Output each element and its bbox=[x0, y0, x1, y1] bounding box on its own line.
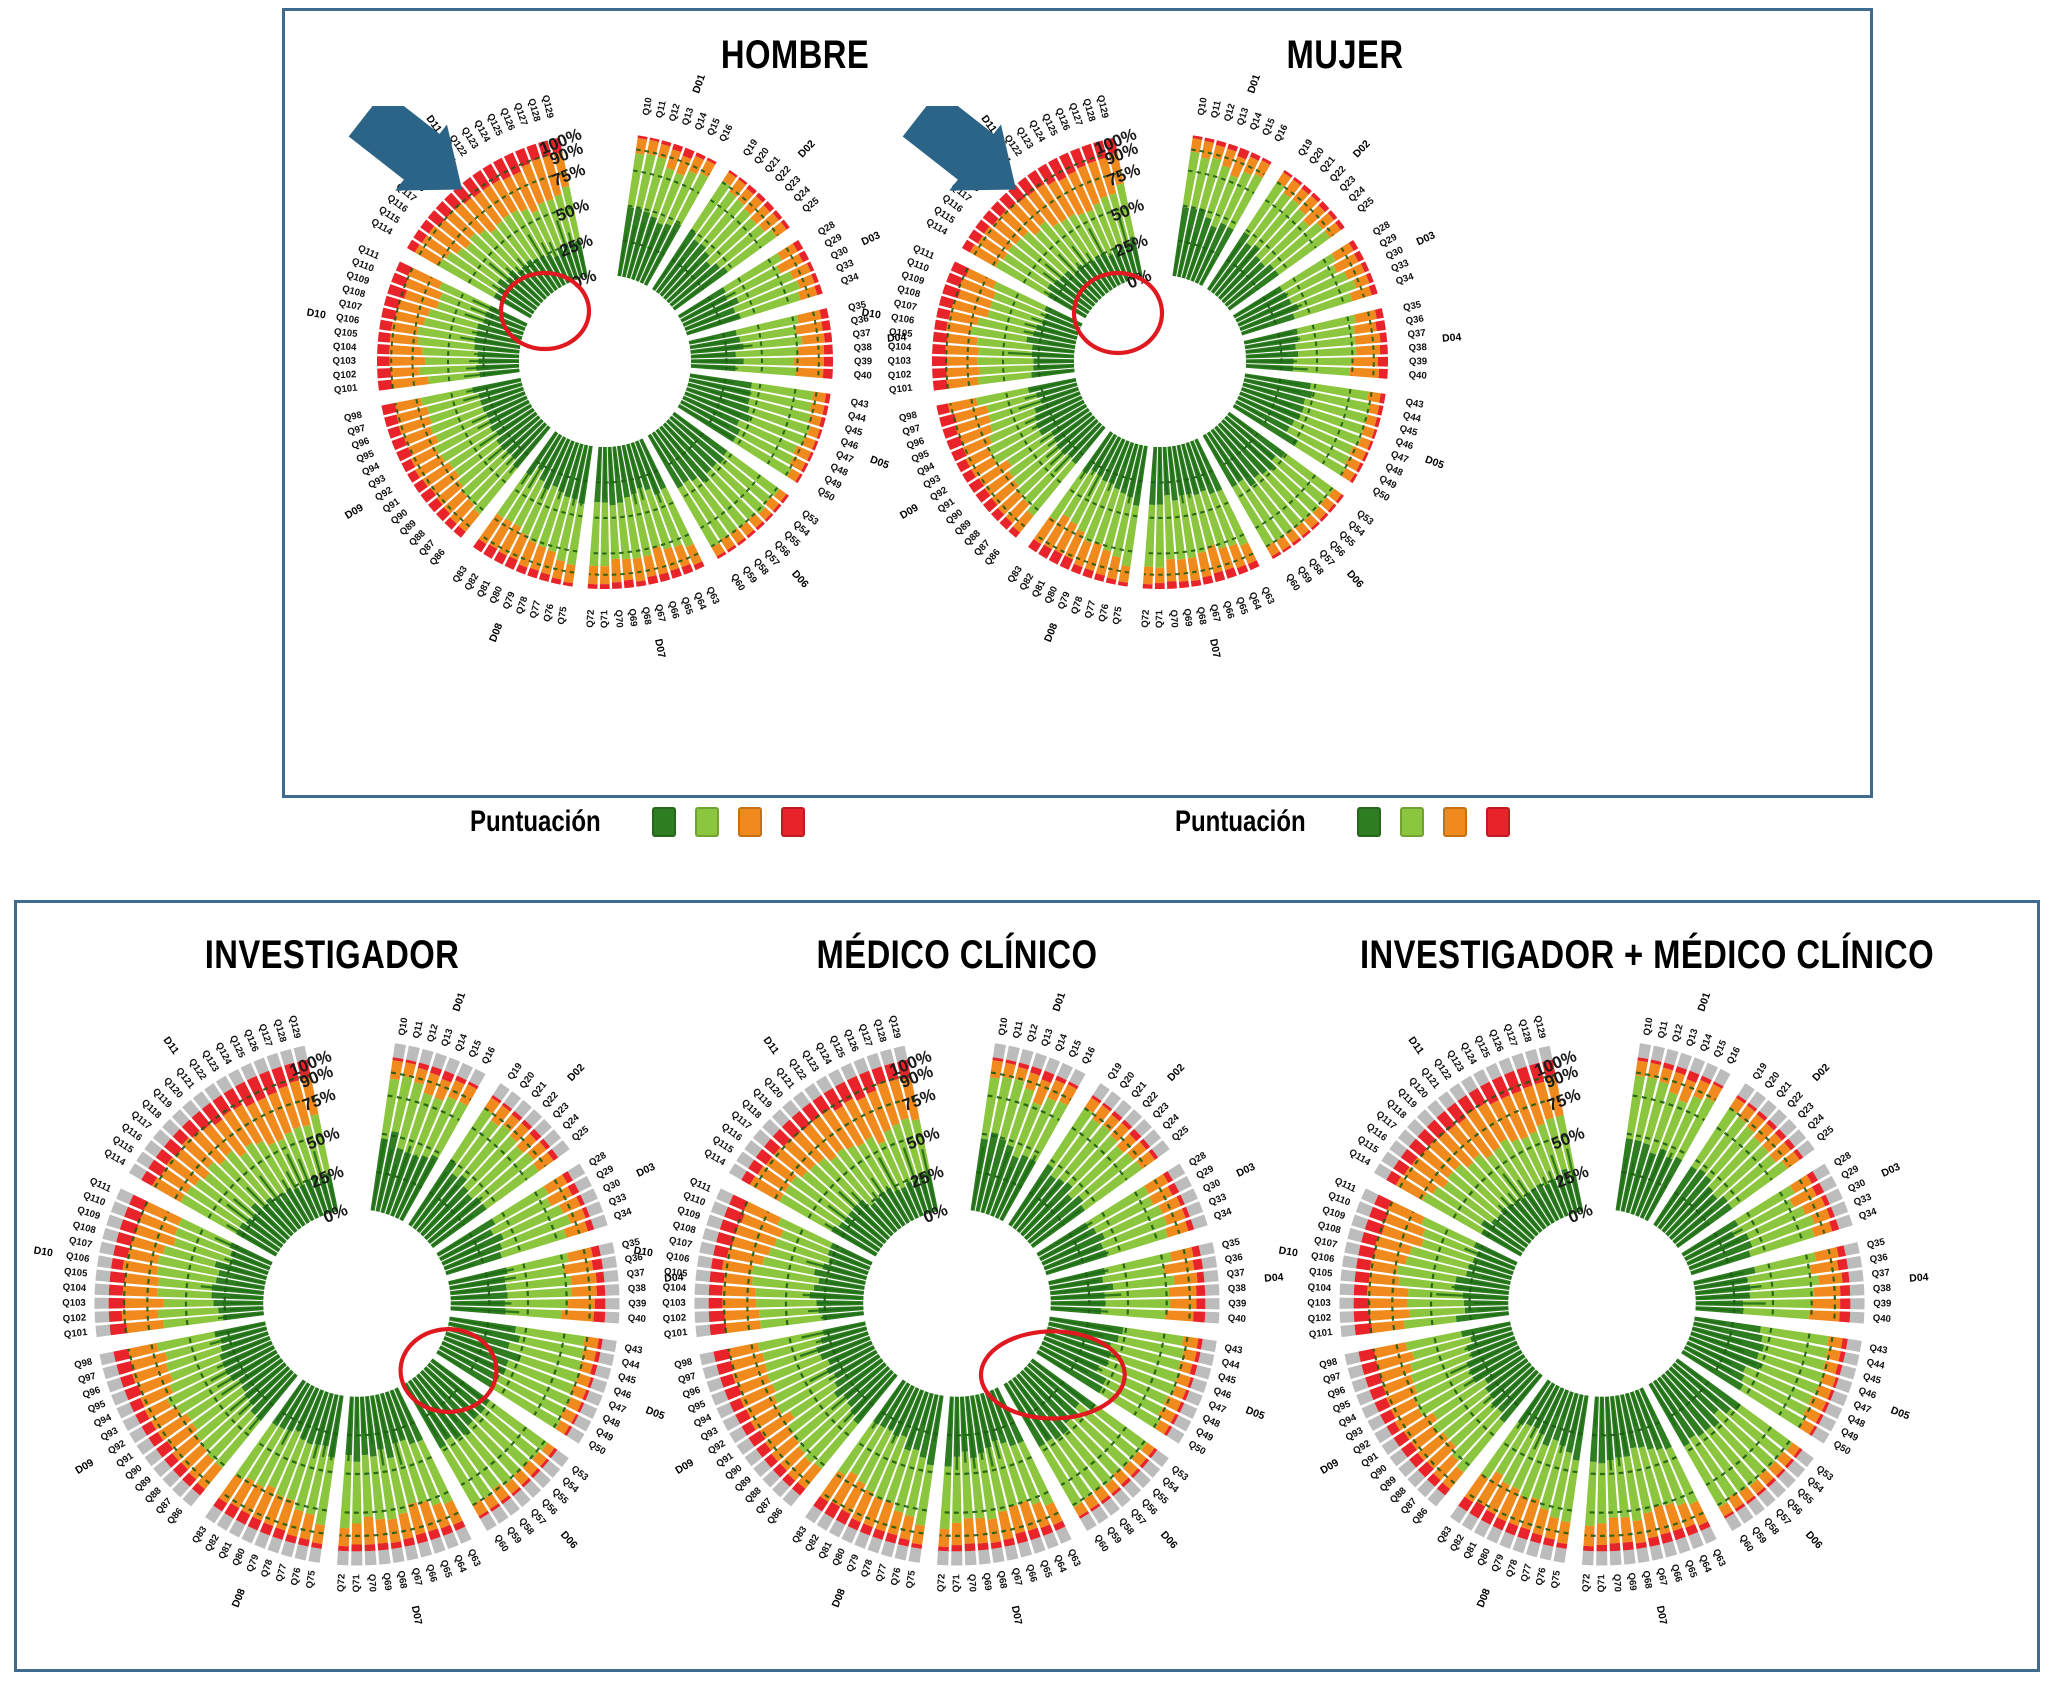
stacked-bar-segment bbox=[1155, 583, 1165, 589]
question-label: Q109 bbox=[76, 1204, 102, 1222]
question-label: Q96 bbox=[681, 1385, 702, 1401]
stacked-bar-segment bbox=[1170, 1299, 1196, 1309]
domain-label: D10 bbox=[306, 306, 327, 321]
stacked-bar-segment bbox=[1837, 1258, 1848, 1270]
outer-ring-segment bbox=[406, 1046, 420, 1062]
median-spike bbox=[1159, 447, 1161, 479]
question-label: Q103 bbox=[333, 356, 356, 367]
stacked-bar-segment bbox=[1169, 1286, 1197, 1297]
domain-label: D03 bbox=[860, 229, 883, 248]
question-label: Q107 bbox=[68, 1235, 93, 1251]
question-label: Q107 bbox=[338, 298, 363, 314]
outer-ring-segment bbox=[1340, 1283, 1355, 1295]
outer-ring-segment bbox=[1843, 1352, 1859, 1366]
question-label: Q107 bbox=[893, 298, 918, 314]
stacked-bar-segment bbox=[1174, 1273, 1198, 1285]
stacked-bar-segment bbox=[736, 366, 796, 376]
outer-ring-segment bbox=[703, 1365, 720, 1379]
domain-label: D06 bbox=[1803, 1529, 1825, 1551]
stacked-bar-segment bbox=[1597, 1523, 1607, 1545]
question-label: Q11 bbox=[1011, 1019, 1026, 1039]
question-label: Q102 bbox=[62, 1312, 86, 1324]
outer-ring-segment bbox=[1664, 1049, 1678, 1066]
stacked-bar-segment bbox=[622, 558, 633, 580]
grid-arc bbox=[758, 325, 762, 373]
domain-label: D08 bbox=[1042, 621, 1060, 643]
outer-ring-segment bbox=[1201, 1256, 1217, 1269]
question-label: Q39 bbox=[1873, 1298, 1891, 1309]
stacked-bar-segment bbox=[936, 403, 949, 415]
question-label: Q103 bbox=[62, 1298, 85, 1309]
stacked-bar-segment bbox=[802, 333, 825, 344]
domain-label: D06 bbox=[558, 1529, 580, 1551]
legend-swatch-verde-oscuro bbox=[1357, 807, 1381, 837]
grid-arc bbox=[1086, 1272, 1090, 1313]
outer-ring-segment bbox=[1005, 1544, 1019, 1560]
stacked-bar-segment bbox=[113, 1245, 129, 1258]
stacked-bar-segment bbox=[612, 582, 622, 589]
domain-label: D10 bbox=[1278, 1244, 1299, 1259]
top-panel: HOMBRE MUJER 0%25%50%75%90%100%Q10Q11Q12… bbox=[282, 8, 1873, 798]
question-label: Q38 bbox=[853, 342, 872, 354]
domain-label: D08 bbox=[487, 621, 505, 643]
question-label: Q11 bbox=[1656, 1019, 1671, 1039]
question-label: Q50 bbox=[1186, 1439, 1207, 1458]
stacked-bar-segment bbox=[1354, 310, 1377, 323]
domain-label: D08 bbox=[1475, 1587, 1493, 1609]
question-label: Q105 bbox=[663, 1266, 688, 1280]
stacked-bar-segment bbox=[633, 558, 646, 582]
stacked-bar-segment bbox=[1193, 1258, 1203, 1270]
outer-ring-segment bbox=[103, 1365, 120, 1379]
question-label: Q108 bbox=[671, 1220, 697, 1237]
question-label: Q101 bbox=[1308, 1327, 1333, 1341]
question-label: Q70 bbox=[966, 1574, 978, 1593]
stacked-bar-segment bbox=[942, 284, 961, 298]
domain-label: D05 bbox=[1244, 1404, 1266, 1422]
question-label: Q38 bbox=[628, 1283, 647, 1295]
stacked-bar-segment bbox=[116, 1232, 133, 1246]
question-label: Q98 bbox=[898, 409, 919, 424]
stacked-bar-segment bbox=[1622, 1542, 1633, 1551]
question-label: Q44 bbox=[1402, 410, 1423, 425]
question-label: Q35 bbox=[1221, 1236, 1242, 1251]
stacked-bar-segment bbox=[505, 1299, 568, 1308]
outer-ring-segment bbox=[993, 1043, 1006, 1059]
domain-label: D04 bbox=[1264, 1271, 1284, 1284]
question-label: Q101 bbox=[663, 1327, 688, 1341]
domain-label: D03 bbox=[1415, 229, 1438, 248]
domain-label: D01 bbox=[450, 991, 468, 1013]
question-label: Q80 bbox=[230, 1547, 248, 1568]
question-label: Q65 bbox=[438, 1559, 454, 1580]
question-label: Q35 bbox=[1866, 1236, 1887, 1251]
question-label: Q129 bbox=[287, 1014, 303, 1039]
domain-label: D01 bbox=[1695, 991, 1713, 1013]
stacked-bar-segment bbox=[377, 356, 390, 366]
stacked-bar-segment bbox=[938, 1529, 949, 1547]
outer-ring-segment bbox=[281, 1541, 295, 1558]
question-label: Q70 bbox=[1168, 609, 1180, 628]
domain-label: D04 bbox=[1442, 331, 1462, 344]
stacked-bar-segment bbox=[710, 1323, 727, 1335]
question-label: Q104 bbox=[62, 1282, 87, 1294]
stacked-bar-segment bbox=[1197, 1272, 1205, 1283]
question-label: Q16 bbox=[1725, 1045, 1743, 1066]
outer-ring-segment bbox=[94, 1298, 108, 1309]
stacked-bar-segment bbox=[977, 357, 1033, 365]
question-label: Q64 bbox=[452, 1553, 469, 1575]
stacked-bar-segment bbox=[352, 1523, 362, 1544]
outer-ring-segment bbox=[378, 1549, 390, 1564]
stacked-bar-segment bbox=[571, 1286, 597, 1297]
question-label: Q104 bbox=[333, 341, 358, 353]
stacked-bar-segment bbox=[912, 1524, 925, 1544]
chart-title-investigador-medico: INVESTIGADOR + MÉDICO CLÍNICO bbox=[1327, 933, 1967, 978]
stacked-bar-segment bbox=[611, 559, 621, 583]
question-label: Q37 bbox=[1407, 328, 1426, 341]
stacked-bar-segment bbox=[938, 1546, 949, 1551]
stacked-bar-segment bbox=[1196, 1285, 1205, 1296]
question-label: Q76 bbox=[889, 1567, 904, 1587]
stacked-bar-segment bbox=[936, 308, 950, 320]
grid-arc bbox=[1278, 333, 1281, 370]
outer-ring-segment bbox=[102, 1228, 119, 1242]
question-label: Q128 bbox=[1516, 1018, 1533, 1044]
stacked-bar-segment bbox=[1379, 369, 1388, 379]
stacked-bar-segment bbox=[379, 320, 392, 331]
outer-ring-segment bbox=[1846, 1339, 1862, 1352]
outer-ring-segment bbox=[1340, 1269, 1355, 1281]
question-label: Q13 bbox=[1039, 1027, 1055, 1048]
question-label: Q12 bbox=[425, 1023, 441, 1043]
domain-label: D03 bbox=[1880, 1161, 1903, 1180]
question-label: Q13 bbox=[439, 1027, 455, 1048]
stacked-bar-segment bbox=[1361, 1361, 1378, 1375]
question-label: Q76 bbox=[1097, 603, 1112, 623]
question-label: Q37 bbox=[1871, 1267, 1890, 1280]
stacked-bar-segment bbox=[125, 1273, 159, 1286]
outer-ring-segment bbox=[95, 1325, 110, 1337]
question-label: Q35 bbox=[1402, 299, 1423, 314]
stacked-bar-segment bbox=[965, 1543, 976, 1551]
question-label: Q98 bbox=[1318, 1356, 1339, 1371]
outer-ring-segment bbox=[694, 1298, 708, 1309]
question-label: Q63 bbox=[1065, 1547, 1083, 1568]
question-label: Q11 bbox=[1209, 99, 1224, 119]
outer-ring-segment bbox=[1339, 1298, 1353, 1309]
stacked-bar-segment bbox=[1370, 1309, 1410, 1320]
question-label: Q34 bbox=[1858, 1206, 1879, 1222]
outer-ring-segment bbox=[1623, 1549, 1635, 1564]
question-label: Q47 bbox=[1852, 1399, 1873, 1416]
radial-chart-medico: 0%25%50%75%90%100%Q10Q11Q12Q13Q14Q15Q16D… bbox=[652, 998, 1262, 1608]
question-label: Q47 bbox=[1207, 1399, 1228, 1416]
question-label: Q33 bbox=[607, 1192, 628, 1209]
question-label: Q50 bbox=[586, 1439, 607, 1458]
question-label: Q45 bbox=[1862, 1371, 1883, 1387]
stacked-bar-segment bbox=[600, 584, 610, 589]
outer-ring-segment bbox=[1582, 1551, 1594, 1566]
question-label: Q65 bbox=[1683, 1559, 1699, 1580]
stacked-bar-segment bbox=[378, 332, 391, 343]
question-label: Q47 bbox=[607, 1399, 628, 1416]
stacked-bar-segment bbox=[1827, 1336, 1843, 1348]
question-label: Q38 bbox=[1228, 1283, 1247, 1295]
domain-label: D04 bbox=[1909, 1271, 1929, 1284]
question-label: Q69 bbox=[1181, 608, 1194, 627]
question-label: Q97 bbox=[677, 1371, 697, 1386]
question-label: Q77 bbox=[1519, 1563, 1534, 1583]
question-label: Q105 bbox=[63, 1266, 88, 1280]
legend-swatch-verde-oscuro bbox=[652, 807, 676, 837]
stacked-bar-segment bbox=[1609, 1517, 1620, 1543]
question-label: Q105 bbox=[333, 327, 358, 341]
question-label: Q69 bbox=[626, 608, 639, 627]
stacked-bar-segment bbox=[1597, 1463, 1607, 1523]
question-label: Q80 bbox=[1475, 1547, 1493, 1568]
median-spike bbox=[1601, 1397, 1603, 1436]
grid-arc bbox=[486, 1272, 490, 1313]
domain-label: D07 bbox=[1654, 1605, 1669, 1626]
domain-label: D07 bbox=[409, 1605, 424, 1626]
question-label: Q67 bbox=[409, 1567, 424, 1587]
legend-swatch-verde-claro bbox=[1400, 807, 1424, 837]
grid-arc bbox=[1161, 1255, 1167, 1319]
stacked-bar-segment bbox=[658, 144, 671, 160]
stacked-bar-segment bbox=[709, 1298, 723, 1309]
question-label: Q10 bbox=[641, 97, 655, 117]
stacked-bar-segment bbox=[1361, 1232, 1378, 1246]
domain-label: D05 bbox=[1423, 454, 1445, 472]
stacked-bar-segment bbox=[946, 367, 979, 377]
stacked-bar-segment bbox=[338, 1528, 349, 1547]
question-label: Q78 bbox=[1504, 1558, 1520, 1579]
stacked-bar-segment bbox=[716, 1232, 734, 1246]
question-label: Q39 bbox=[1409, 356, 1427, 367]
outer-ring-segment bbox=[895, 1544, 909, 1560]
stacked-bar-segment bbox=[122, 1310, 159, 1321]
outer-ring-segment bbox=[603, 1270, 618, 1282]
domain-label: D09 bbox=[343, 502, 366, 522]
question-label: Q64 bbox=[1697, 1553, 1714, 1575]
outer-ring-segment bbox=[695, 1269, 710, 1281]
stacked-bar-segment bbox=[1155, 504, 1164, 567]
question-label: Q98 bbox=[73, 1356, 94, 1371]
stacked-bar-segment bbox=[1596, 1545, 1607, 1551]
outer-ring-segment bbox=[1205, 1284, 1220, 1296]
question-label: Q128 bbox=[871, 1018, 888, 1044]
question-label: Q64 bbox=[1052, 1553, 1069, 1575]
figure-root: HOMBRE MUJER 0%25%50%75%90%100%Q10Q11Q12… bbox=[0, 0, 2055, 1685]
outer-ring-segment bbox=[1846, 1256, 1862, 1269]
outer-ring-segment bbox=[601, 1256, 617, 1269]
outer-ring-segment bbox=[1199, 1242, 1215, 1256]
question-label: Q33 bbox=[1852, 1192, 1873, 1209]
outer-ring-segment bbox=[1006, 1046, 1020, 1062]
stacked-bar-segment bbox=[951, 1545, 962, 1551]
outer-ring-segment bbox=[605, 1298, 619, 1309]
grid-arc bbox=[584, 1249, 590, 1321]
stacked-bar-segment bbox=[365, 1544, 376, 1551]
outer-ring-segment bbox=[1638, 1043, 1651, 1059]
stacked-bar-segment bbox=[726, 1320, 761, 1333]
outer-ring-segment bbox=[1019, 1049, 1033, 1066]
outer-ring-segment bbox=[702, 1228, 719, 1242]
stacked-bar-segment bbox=[1355, 1271, 1370, 1283]
stacked-bar-segment bbox=[1294, 357, 1352, 365]
stacked-bar-segment bbox=[1404, 1316, 1457, 1329]
grid-arc bbox=[813, 312, 819, 378]
question-label: Q67 bbox=[1654, 1567, 1669, 1587]
question-label: Q104 bbox=[662, 1282, 687, 1294]
stacked-bar-segment bbox=[387, 1518, 401, 1543]
stacked-bar-segment bbox=[1167, 581, 1177, 589]
question-label: Q76 bbox=[542, 603, 557, 623]
question-label: Q40 bbox=[853, 370, 872, 382]
question-label: Q75 bbox=[904, 1569, 918, 1589]
question-label: Q43 bbox=[1869, 1343, 1889, 1357]
question-label: Q69 bbox=[980, 1572, 993, 1591]
question-label: Q77 bbox=[528, 599, 543, 619]
grid-arc bbox=[1829, 1249, 1835, 1321]
stacked-bar-segment bbox=[975, 1518, 987, 1544]
outer-ring-segment bbox=[391, 1547, 404, 1563]
question-label: Q40 bbox=[1227, 1313, 1246, 1325]
outer-ring-segment bbox=[95, 1283, 110, 1295]
question-label: Q10 bbox=[997, 1017, 1011, 1037]
stacked-bar-segment bbox=[797, 310, 822, 324]
question-label: Q44 bbox=[1220, 1357, 1241, 1372]
stacked-bar-segment bbox=[113, 1349, 130, 1362]
outer-ring-segment bbox=[1201, 1339, 1217, 1352]
stacked-bar-segment bbox=[1365, 1219, 1385, 1234]
question-label: Q105 bbox=[1308, 1266, 1333, 1280]
stacked-bar-segment bbox=[744, 357, 794, 365]
question-label: Q109 bbox=[676, 1204, 702, 1222]
stacked-bar-segment bbox=[725, 1310, 760, 1321]
domain-label: D11 bbox=[761, 1035, 782, 1057]
stacked-bar-segment bbox=[1818, 1273, 1842, 1285]
radial-chart-ambos: 0%25%50%75%90%100%Q10Q11Q12Q13Q14Q15Q16D… bbox=[1297, 998, 1907, 1608]
stacked-bar-segment bbox=[1841, 1272, 1849, 1283]
outer-ring-segment bbox=[1340, 1311, 1355, 1323]
median-spike bbox=[356, 1397, 358, 1428]
stacked-bar-segment bbox=[381, 308, 397, 320]
question-label: Q72 bbox=[336, 1574, 348, 1593]
question-label: Q34 bbox=[613, 1206, 634, 1222]
question-label: Q37 bbox=[1226, 1267, 1245, 1280]
stacked-bar-segment bbox=[1170, 1247, 1194, 1261]
outer-ring-segment bbox=[1203, 1270, 1218, 1282]
question-label: Q70 bbox=[613, 609, 625, 628]
stacked-bar-segment bbox=[1188, 557, 1201, 581]
outer-ring-segment bbox=[1195, 1365, 1212, 1379]
question-label: Q101 bbox=[334, 383, 359, 397]
question-label: Q106 bbox=[335, 312, 360, 327]
outer-ring-segment bbox=[599, 1242, 615, 1256]
stacked-bar-segment bbox=[1356, 345, 1380, 355]
stacked-bar-segment bbox=[338, 1546, 349, 1551]
stacked-bar-segment bbox=[1101, 1308, 1165, 1319]
stacked-bar-segment bbox=[900, 1515, 915, 1540]
question-label: Q79 bbox=[245, 1553, 262, 1574]
stacked-bar-segment bbox=[933, 332, 948, 343]
bottom-panel: INVESTIGADOR MÉDICO CLÍNICO INVESTIGADOR… bbox=[14, 900, 2040, 1672]
stacked-bar-segment bbox=[592, 1258, 603, 1270]
domain-label: D07 bbox=[652, 638, 667, 659]
stacked-bar-segment bbox=[824, 332, 832, 342]
stacked-bar-segment bbox=[1380, 344, 1388, 354]
question-label: Q97 bbox=[77, 1371, 97, 1386]
question-label: Q10 bbox=[397, 1017, 411, 1037]
stacked-bar-segment bbox=[381, 403, 396, 415]
legend-swatch-verde-claro bbox=[695, 807, 719, 837]
question-label: Q72 bbox=[936, 1574, 948, 1593]
legend-title: Puntuación bbox=[470, 805, 601, 839]
stacked-bar-segment bbox=[716, 1361, 733, 1375]
stacked-bar-segment bbox=[111, 1258, 124, 1270]
outer-ring-segment bbox=[1526, 1541, 1540, 1558]
question-label: Q44 bbox=[620, 1357, 641, 1372]
question-label: Q71 bbox=[951, 1574, 962, 1593]
chart-hole bbox=[263, 1209, 450, 1396]
question-label: Q107 bbox=[668, 1235, 693, 1251]
radial-chart-investigador: 0%25%50%75%90%100%Q10Q11Q12Q13Q14Q15Q16D… bbox=[52, 998, 662, 1608]
stacked-bar-segment bbox=[824, 357, 833, 367]
question-label: Q43 bbox=[1224, 1343, 1244, 1357]
domain-label: D08 bbox=[830, 1587, 848, 1609]
stacked-bar-segment bbox=[978, 1543, 989, 1551]
stacked-bar-segment bbox=[795, 322, 823, 335]
outer-ring-segment bbox=[1347, 1228, 1364, 1242]
question-label: Q106 bbox=[1310, 1250, 1335, 1265]
outer-ring-segment bbox=[595, 1365, 612, 1379]
question-label: Q102 bbox=[1307, 1312, 1331, 1324]
outer-ring-segment bbox=[337, 1551, 349, 1566]
stacked-bar-segment bbox=[563, 1260, 593, 1274]
grid-arc bbox=[792, 317, 797, 376]
question-label: Q106 bbox=[65, 1250, 90, 1265]
question-label: Q46 bbox=[612, 1385, 633, 1401]
stacked-bar-segment bbox=[1375, 320, 1386, 331]
outer-ring-segment bbox=[695, 1311, 710, 1323]
question-label: Q78 bbox=[859, 1558, 875, 1579]
stacked-bar-segment bbox=[164, 1299, 214, 1307]
stacked-bar-segment bbox=[1369, 1273, 1400, 1286]
outer-ring-segment bbox=[978, 1549, 990, 1564]
question-label: Q78 bbox=[259, 1558, 275, 1579]
outer-ring-segment bbox=[965, 1551, 977, 1566]
question-label: Q68 bbox=[1194, 606, 1208, 626]
question-label: Q128 bbox=[271, 1018, 288, 1044]
stacked-bar-segment bbox=[947, 377, 979, 389]
outer-ring-segment bbox=[1348, 1365, 1365, 1379]
question-label: Q37 bbox=[626, 1267, 645, 1280]
question-label: Q97 bbox=[1322, 1371, 1342, 1386]
question-label: Q104 bbox=[888, 341, 913, 353]
stacked-bar-segment bbox=[1545, 1517, 1559, 1540]
stacked-bar-segment bbox=[821, 320, 831, 331]
domain-label: D03 bbox=[1235, 1161, 1258, 1180]
stacked-bar-segment bbox=[932, 344, 946, 354]
outer-ring-segment bbox=[418, 1541, 432, 1558]
question-label: Q40 bbox=[1872, 1313, 1891, 1325]
stacked-bar-segment bbox=[1590, 1396, 1599, 1462]
question-label: Q11 bbox=[654, 99, 669, 119]
stacked-bar-segment bbox=[1610, 1543, 1621, 1551]
chart-hole bbox=[519, 275, 691, 447]
